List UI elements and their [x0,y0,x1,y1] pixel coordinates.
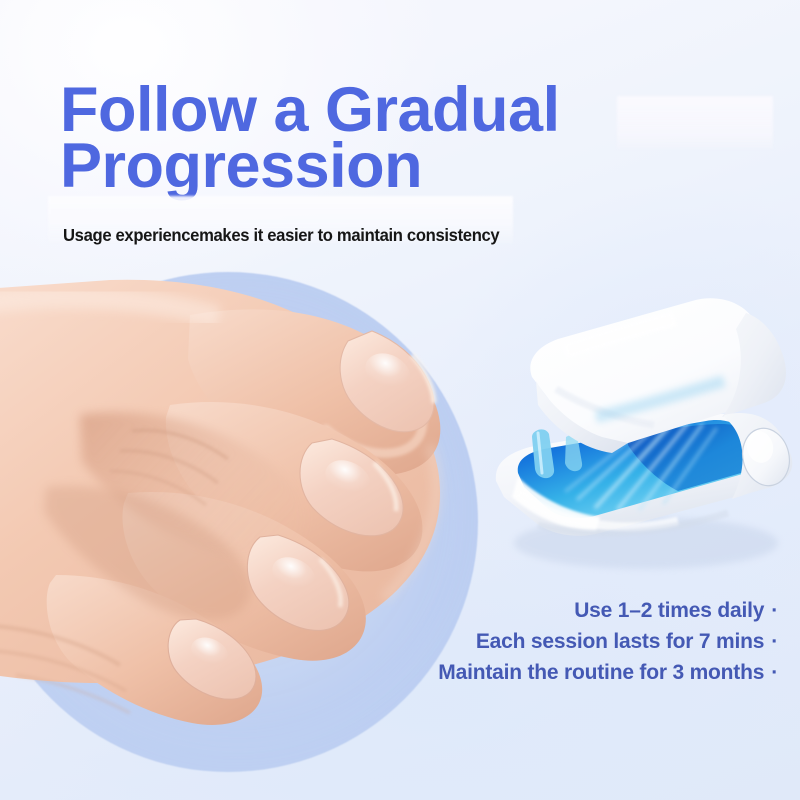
list-item: Use 1–2 times daily· [258,595,778,626]
promo-poster: Follow a Gradual Progression Usage exper… [0,0,800,800]
bullet-marker-icon: · [771,595,778,626]
page-title: Follow a Gradual Progression [60,82,660,194]
list-item-label: Each session lasts for 7 mins [476,630,764,653]
bullet-marker-icon: · [771,626,778,657]
bullet-marker-icon: · [771,657,778,688]
usage-instructions-list: Use 1–2 times daily· Each session lasts … [258,595,778,688]
list-item-label: Use 1–2 times daily [574,599,764,622]
list-item: Each session lasts for 7 mins· [258,626,778,657]
subtitle-text: Usage experiencemakes it easier to maint… [63,225,500,246]
device-image [478,285,800,585]
list-item: Maintain the routine for 3 months· [258,657,778,688]
list-item-label: Maintain the routine for 3 months [438,661,764,684]
